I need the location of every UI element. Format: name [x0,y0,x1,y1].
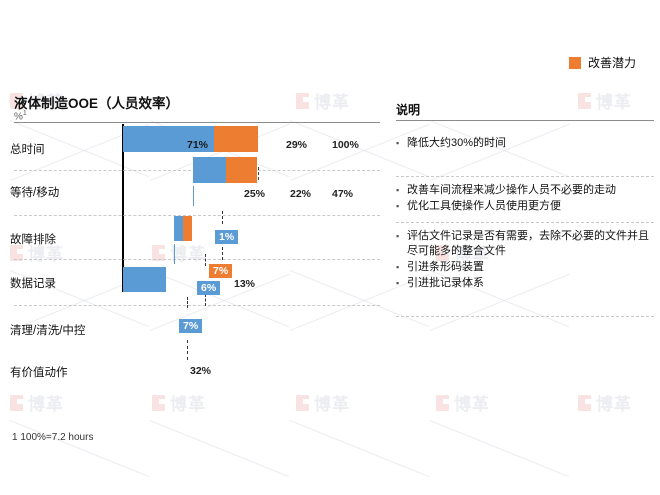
value-waiting-total: 47% [332,188,353,200]
value-total-time-potential: 29% [286,139,307,151]
note-text: 评估文件记录是否有需要，去除不必要的文件并且尽可能多的整合文件 [407,229,658,259]
tick-waiting-start [193,186,194,206]
value-waiting-current: 25% [244,188,265,200]
note-separator [396,176,654,177]
note-item: ▪ 引进批记录体系 [396,276,658,291]
chart-top-rule [14,122,380,123]
chart-title: 液体制造OOE（人员效率） [14,92,179,112]
note-text: 降低大约30%的时间 [407,136,658,151]
tick-data-record-upper [205,254,206,266]
note-item: ▪ 优化工具使操作人员使用更方便 [396,199,658,214]
note-group-waiting: ▪ 改善车间流程来减少操作人员不必要的走动 ▪ 优化工具使操作人员使用更方便 [396,183,658,215]
footnote: 1 100%=7.2 hours [12,432,93,443]
tick-waiting-end [258,167,259,180]
unit-percent: % [14,111,23,122]
row-label-total-time: 总时间 [10,141,45,157]
note-separator [396,222,654,223]
value-waiting-potential: 22% [290,188,311,200]
bar-total-time-potential [214,126,258,152]
row-separator [14,215,380,216]
tick-cleaning-lower-b [187,351,188,360]
bar-troubleshooting-current [174,216,183,241]
value-total-time-total: 100% [332,139,359,151]
tick-data-record-lower [205,294,206,306]
unit-footnote-marker: 1 [23,110,27,117]
note-item: ▪ 引进条形码装置 [396,260,658,275]
value-data-record-total: 13% [234,278,255,290]
tick-cleaning-upper [187,297,188,308]
note-item: ▪ 评估文件记录是否有需要，去除不必要的文件并且尽可能多的整合文件 [396,229,658,259]
bullet-icon: ▪ [396,260,407,275]
note-item: ▪ 改善车间流程来减少操作人员不必要的走动 [396,183,658,198]
note-item: ▪ 降低大约30%的时间 [396,136,658,151]
slide-canvas: 博革 博革 博革 博革 博革 博革 博革 博革 博革 博革 博革 改善潜力 [0,0,660,495]
row-label-value-added: 有价值动作 [10,364,68,380]
value-troubleshooting: 1% [215,230,238,244]
row-label-waiting-movement: 等待/移动 [10,184,59,200]
value-total-time-current: 71% [187,139,208,151]
note-text: 优化工具使操作人员使用更方便 [407,199,658,214]
row-label-data-record: 数据记录 [10,275,56,291]
chart-panel: 液体制造OOE（人员效率） %1 总时间 71% 29% 100% 等待/移动 … [0,0,384,495]
tick-cleaning-lower-a [187,340,188,349]
row-label-cleaning: 清理/清洗/中控 [10,322,85,338]
bar-data-record-current [123,267,166,292]
notes-title: 说明 [396,101,420,118]
value-data-record-potential: 7% [209,264,232,278]
value-value-added: 32% [190,365,211,377]
row-label-troubleshooting: 故障排除 [10,231,56,247]
value-cleaning: 7% [179,319,202,333]
bullet-icon: ▪ [396,183,407,198]
value-data-record-current: 6% [197,281,220,295]
bar-troubleshooting-potential [183,216,192,241]
tick-troubleshooting-upper [222,211,223,224]
tick-troubleshooting-lower [222,247,223,260]
row-separator [14,259,380,260]
bullet-icon: ▪ [396,276,407,291]
notes-panel: 说明 ▪ 降低大约30%的时间 ▪ 改善车间流程来减少操作人员不必要的走动 ▪ … [390,0,660,495]
note-group-total-time: ▪ 降低大约30%的时间 [396,136,658,152]
tick-troubleshooting-start [174,244,175,264]
notes-title-rule [396,120,654,121]
legend-label-improvement-potential: 改善潜力 [588,54,636,71]
row-separator [14,305,380,306]
note-text: 引进条形码装置 [407,260,658,275]
bullet-icon: ▪ [396,136,407,151]
chart-legend: 改善潜力 [569,54,636,71]
chart-unit-label: %1 [14,110,27,122]
note-separator [396,316,654,317]
legend-swatch-improvement-potential [569,57,581,69]
bar-waiting-current [193,157,226,183]
note-group-data-record: ▪ 评估文件记录是否有需要，去除不必要的文件并且尽可能多的整合文件 ▪ 引进条形… [396,229,658,292]
bullet-icon: ▪ [396,199,407,214]
bullet-icon: ▪ [396,229,407,244]
note-text: 引进批记录体系 [407,276,658,291]
bar-waiting-potential [226,157,257,183]
note-text: 改善车间流程来减少操作人员不必要的走动 [407,183,658,198]
